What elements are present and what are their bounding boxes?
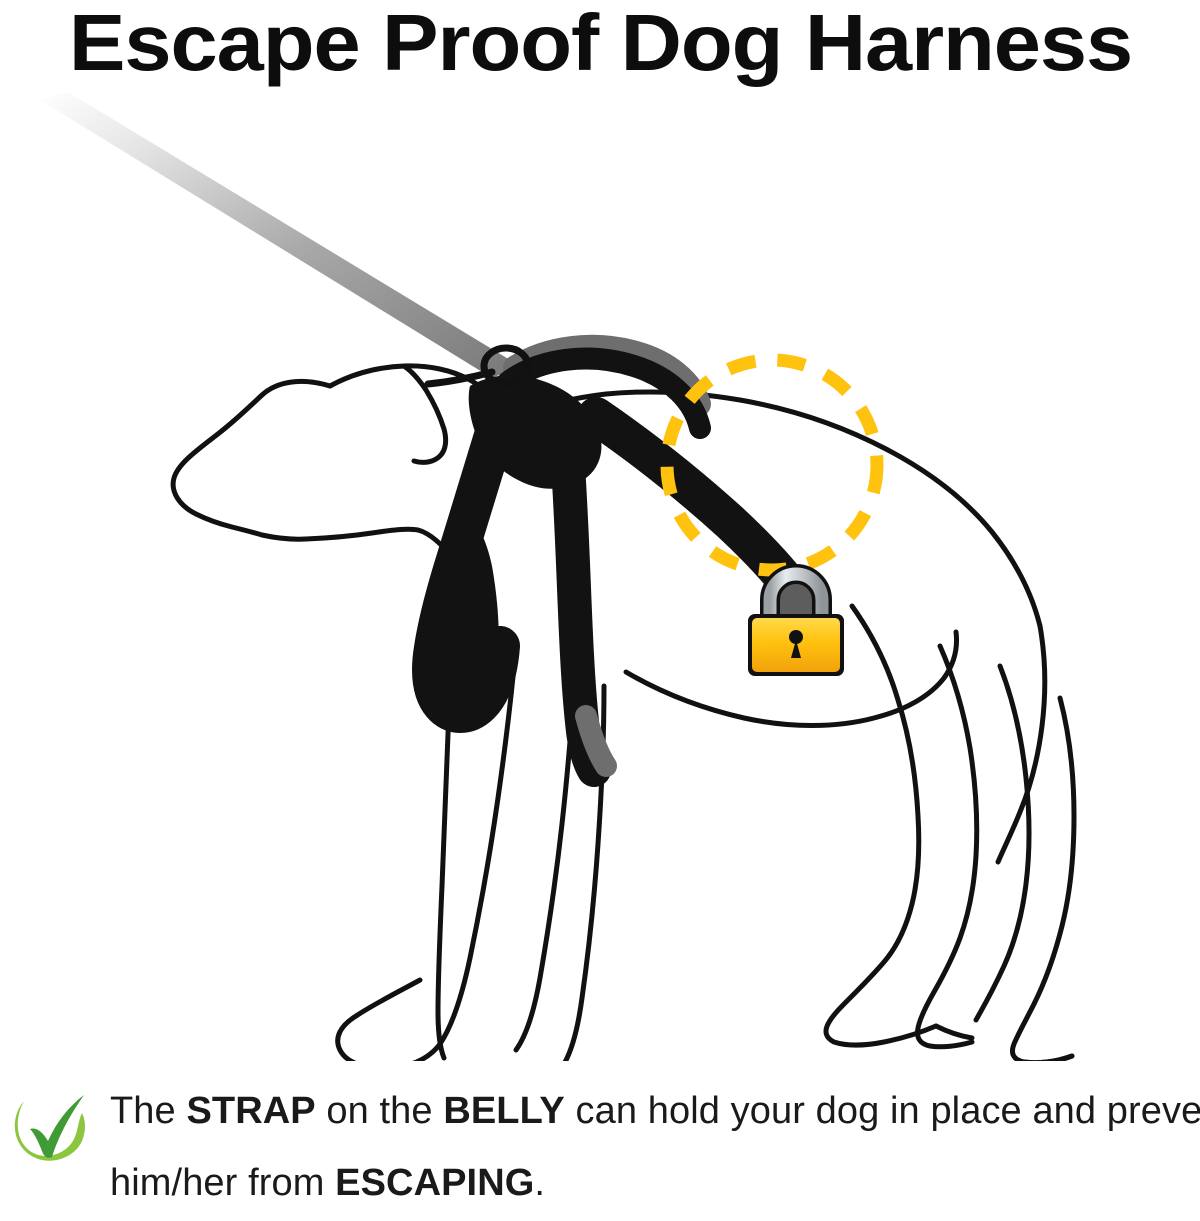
caption-seg: The bbox=[110, 1090, 186, 1132]
caption-line-2: him/her from ESCAPING. bbox=[110, 1147, 1195, 1219]
caption-seg: on the bbox=[316, 1090, 444, 1132]
caption-seg-bold: ESCAPING bbox=[335, 1162, 534, 1204]
caption-seg: him/her from bbox=[110, 1162, 335, 1204]
dog-outline bbox=[173, 366, 1074, 1061]
dog-harness-svg bbox=[0, 86, 1200, 1061]
harness-straps bbox=[428, 348, 830, 770]
page-title-bar: Escape Proof Dog Harness bbox=[0, 0, 1200, 86]
caption-block: The STRAP on the BELLY can hold your dog… bbox=[0, 1063, 1200, 1221]
caption-text: The STRAP on the BELLY can hold your dog… bbox=[110, 1075, 1195, 1219]
leash bbox=[40, 92, 520, 378]
caption-seg: . bbox=[534, 1162, 545, 1204]
page-title: Escape Proof Dog Harness bbox=[68, 3, 1131, 83]
caption-seg-bold: BELLY bbox=[443, 1090, 565, 1132]
dog-harness-illustration bbox=[0, 86, 1200, 1061]
caption-seg-bold: STRAP bbox=[186, 1090, 315, 1132]
caption-line-1: The STRAP on the BELLY can hold your dog… bbox=[110, 1075, 1195, 1147]
caption-seg: can hold your dog in place and prevent bbox=[565, 1090, 1200, 1132]
green-check-icon bbox=[8, 1085, 92, 1169]
